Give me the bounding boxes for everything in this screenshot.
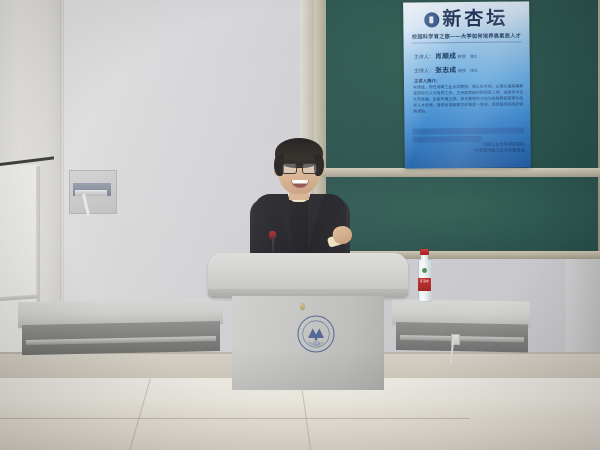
bottle-cap <box>420 249 429 255</box>
speaker-presenter <box>236 136 362 258</box>
eyeglasses-lens-right <box>302 163 317 174</box>
blackboard-middle-rail <box>322 168 600 177</box>
brass-knob <box>300 303 305 310</box>
floor-tile-seam <box>0 418 470 419</box>
eyeglasses-lens-left <box>282 163 297 174</box>
bottle-label-text: 矿泉水 <box>419 280 430 284</box>
blackboard-lower-panel <box>326 177 598 253</box>
event-poster: 新杏坛 校园科学育之旅——大学如何培养高素质人才 主讲人： 肖顺成 教授 博士 … <box>403 1 531 168</box>
bottle-neck <box>421 254 428 261</box>
jacket-lapel-right <box>308 194 324 248</box>
bottle-logo-icon <box>422 268 427 273</box>
water-bottle: 矿泉水 <box>417 249 432 300</box>
university-seal-icon: 1956 UNIVERSITY <box>296 314 336 354</box>
photo-scene: 新杏坛 校园科学育之旅——大学如何培养高素质人才 主讲人： 肖顺成 教授 博士 … <box>0 0 600 450</box>
speaker-grille-inner <box>75 190 107 196</box>
poster-glare <box>403 1 531 168</box>
eyeglasses-bridge <box>295 166 302 167</box>
suit-jacket <box>254 194 346 258</box>
